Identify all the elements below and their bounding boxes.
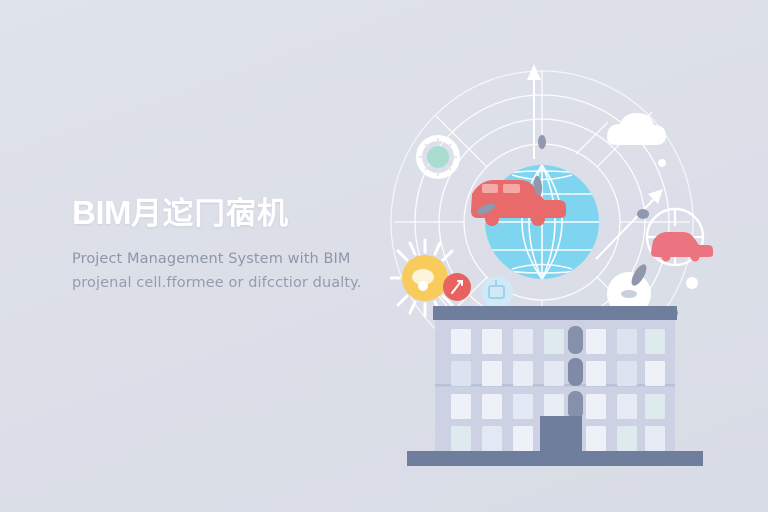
hero-subtitle-line-2: projenal cell.fformee or difcctior dualt… bbox=[72, 271, 402, 295]
page-title-latin: BIM bbox=[72, 194, 131, 231]
badge-red-node bbox=[443, 273, 471, 301]
globe-network-building-illustration bbox=[390, 34, 750, 474]
hero-subtitle-line-1: Project Management System with BIM bbox=[72, 247, 402, 271]
page-title-cjk: 月迱冂㝛机 bbox=[131, 196, 289, 232]
building-window bbox=[451, 361, 665, 386]
cloud-icon bbox=[607, 113, 666, 145]
car-icon-right bbox=[647, 209, 713, 265]
building-base bbox=[407, 451, 703, 466]
hero-banner: BIM月迱冂㝛机 Project Management System with … bbox=[0, 0, 768, 512]
building-center-window bbox=[568, 358, 583, 386]
building-window bbox=[451, 394, 665, 419]
building-center-window bbox=[568, 326, 583, 354]
hero-subtitle: Project Management System with BIM proje… bbox=[72, 247, 402, 295]
building-entrance bbox=[540, 416, 582, 453]
badge-lightblue-node bbox=[481, 276, 513, 308]
page-title: BIM月迱冂㝛机 bbox=[72, 193, 402, 234]
hero-text-block: BIM月迱冂㝛机 Project Management System with … bbox=[72, 193, 402, 295]
building-center-window bbox=[568, 391, 583, 419]
badge-teal-node bbox=[419, 138, 457, 176]
building-window bbox=[451, 329, 665, 354]
office-building-icon bbox=[407, 306, 703, 466]
